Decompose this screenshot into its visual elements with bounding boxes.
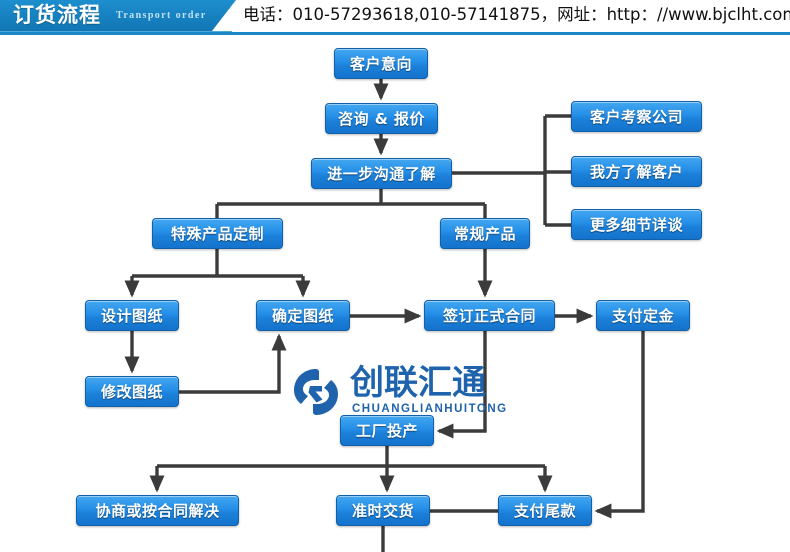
flow-node-n10[interactable]: 确定图纸 [256, 300, 350, 331]
contact-info: 电话：010-57293618,010-57141875，网址：http：//w… [243, 3, 790, 27]
flow-node-n15[interactable]: 协商或按合同解决 [76, 495, 239, 526]
header-rule [0, 32, 790, 35]
flow-node-n17[interactable]: 支付尾款 [498, 495, 592, 526]
flow-node-n8[interactable]: 常规产品 [440, 218, 530, 249]
page-header: 订货流程 Transport order 电话：010-57293618,010… [0, 0, 790, 36]
edge-contract-to-production [439, 331, 485, 431]
header-banner-labels: 订货流程 Transport order [0, 0, 236, 31]
edge-revise-to-confirm [179, 336, 279, 392]
page-subtitle: Transport order [116, 10, 207, 21]
flow-node-n2[interactable]: 咨询 & 报价 [325, 103, 438, 134]
page-title: 订货流程 [13, 2, 101, 29]
flow-node-n6[interactable]: 更多细节详谈 [571, 209, 702, 240]
order-process-flowchart-page: 订货流程 Transport order 电话：010-57293618,010… [0, 0, 790, 552]
flow-node-n1[interactable]: 客户意向 [334, 48, 428, 79]
flowchart-canvas: 创联汇通 CHUANGLIANHUITONG 客户意向咨询 & 报价进一步沟通了… [0, 36, 790, 552]
flow-node-n3[interactable]: 进一步沟通了解 [311, 158, 452, 189]
flow-node-n5[interactable]: 我方了解客户 [571, 156, 702, 187]
flow-node-n14[interactable]: 工厂投产 [340, 415, 434, 446]
flow-node-n4[interactable]: 客户考察公司 [571, 101, 702, 132]
edge-deposit-to-final-payment [597, 331, 643, 511]
flow-node-n7[interactable]: 特殊产品定制 [152, 218, 283, 249]
flow-node-n13[interactable]: 修改图纸 [85, 376, 179, 407]
flow-node-n12[interactable]: 支付定金 [596, 300, 690, 331]
flow-node-n11[interactable]: 签订正式合同 [424, 300, 555, 331]
flow-node-n16[interactable]: 准时交货 [336, 495, 430, 526]
flow-node-n9[interactable]: 设计图纸 [85, 300, 179, 331]
